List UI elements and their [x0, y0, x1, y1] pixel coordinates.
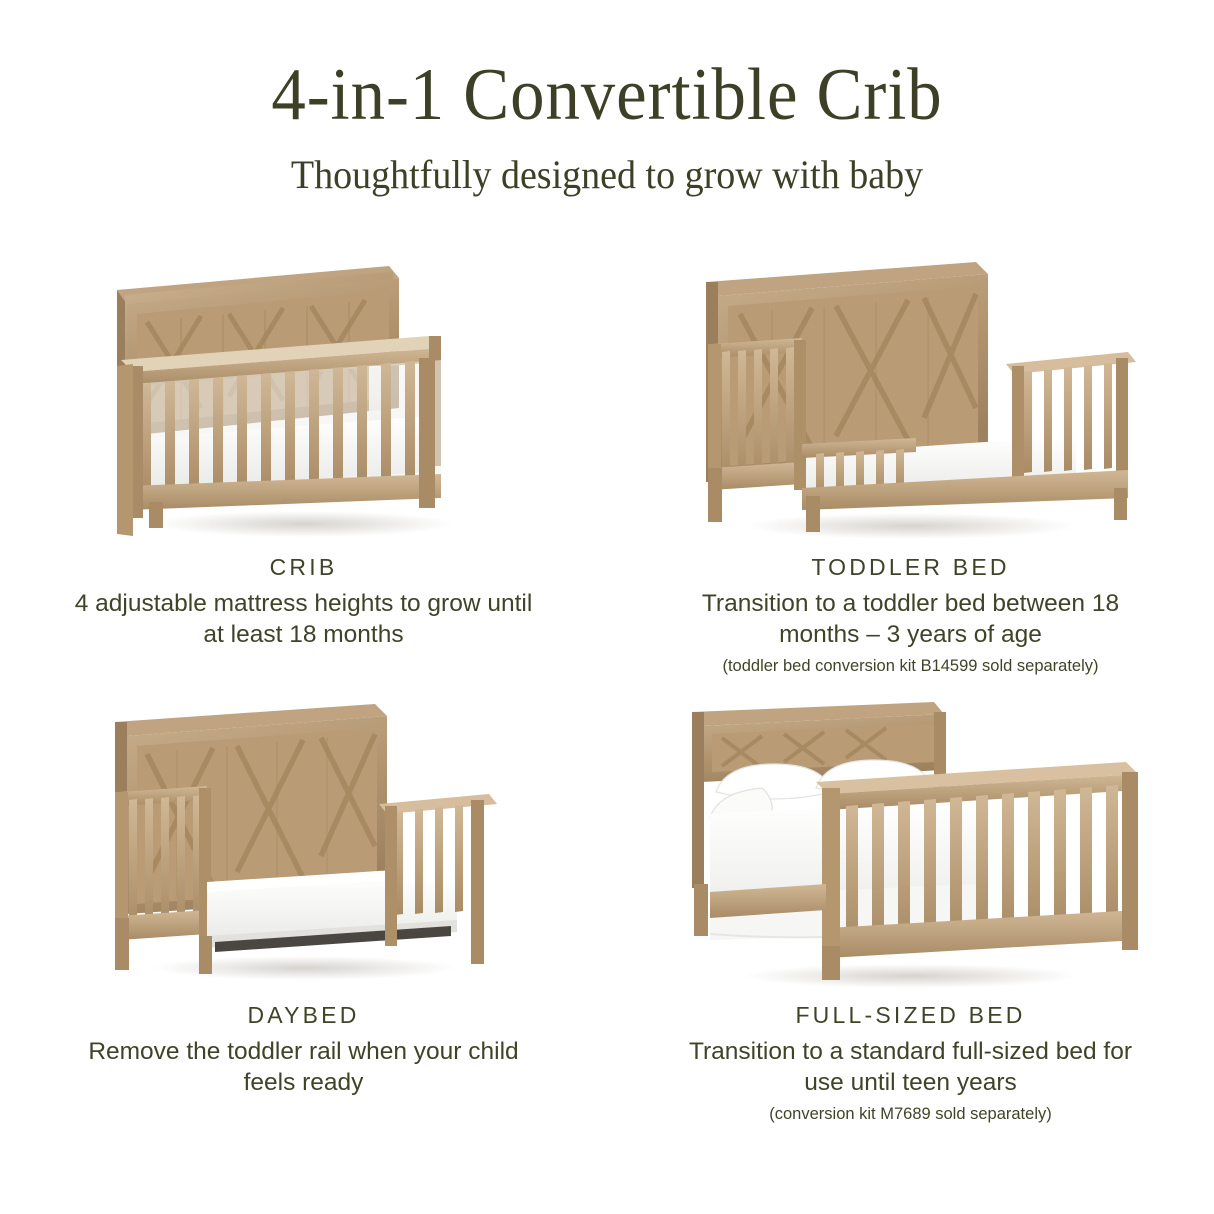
stage-crib: CRIB 4 adjustable mattress heights to gr… [0, 248, 607, 696]
stage-toddler-bed: TODDLER BED Transition to a toddler bed … [607, 248, 1214, 696]
caption-daybed: DAYBED Remove the toddler rail when your… [69, 1000, 539, 1098]
floor-shadow [154, 511, 454, 537]
stage-heading: TODDLER BED [676, 552, 1146, 582]
daybed-illustration [89, 696, 519, 996]
stage-daybed: DAYBED Remove the toddler rail when your… [0, 696, 607, 1144]
page-subtitle: Thoughtfully designed to grow with baby [30, 150, 1183, 200]
toddler-bed-illustration [676, 248, 1146, 548]
stage-body: Transition to a toddler bed between 18 m… [676, 588, 1146, 650]
stage-full-sized-bed: FULL-SIZED BED Transition to a standard … [607, 696, 1214, 1144]
stage-body: Transition to a standard full-sized bed … [676, 1036, 1146, 1098]
full-sized-bed-illustration [676, 696, 1146, 996]
stage-heading: DAYBED [69, 1000, 539, 1030]
floor-shadow [152, 956, 456, 980]
floor-shadow [746, 513, 1076, 539]
stage-heading: CRIB [69, 552, 539, 582]
stage-fine-print: (toddler bed conversion kit B14599 sold … [676, 654, 1146, 678]
stage-body: 4 adjustable mattress heights to grow un… [69, 588, 539, 650]
conversion-stages-grid: CRIB 4 adjustable mattress heights to gr… [0, 248, 1214, 1144]
caption-toddler-bed: TODDLER BED Transition to a toddler bed … [676, 552, 1146, 678]
header: 4-in-1 Convertible Crib Thoughtfully des… [0, 52, 1214, 200]
stage-heading: FULL-SIZED BED [676, 1000, 1146, 1030]
left-side-panel [115, 786, 211, 954]
left-side-panel [708, 338, 806, 504]
crib-illustration [89, 248, 519, 548]
floor-shadow [743, 964, 1079, 988]
caption-crib: CRIB 4 adjustable mattress heights to gr… [69, 552, 539, 650]
stage-fine-print: (conversion kit M7689 sold separately) [676, 1102, 1146, 1126]
bedding [710, 800, 976, 940]
caption-full-sized-bed: FULL-SIZED BED Transition to a standard … [676, 1000, 1146, 1126]
infographic-page: 4-in-1 Convertible Crib Thoughtfully des… [0, 0, 1214, 1214]
page-title: 4-in-1 Convertible Crib [42, 52, 1171, 138]
left-post [117, 364, 133, 536]
stage-body: Remove the toddler rail when your child … [69, 1036, 539, 1098]
